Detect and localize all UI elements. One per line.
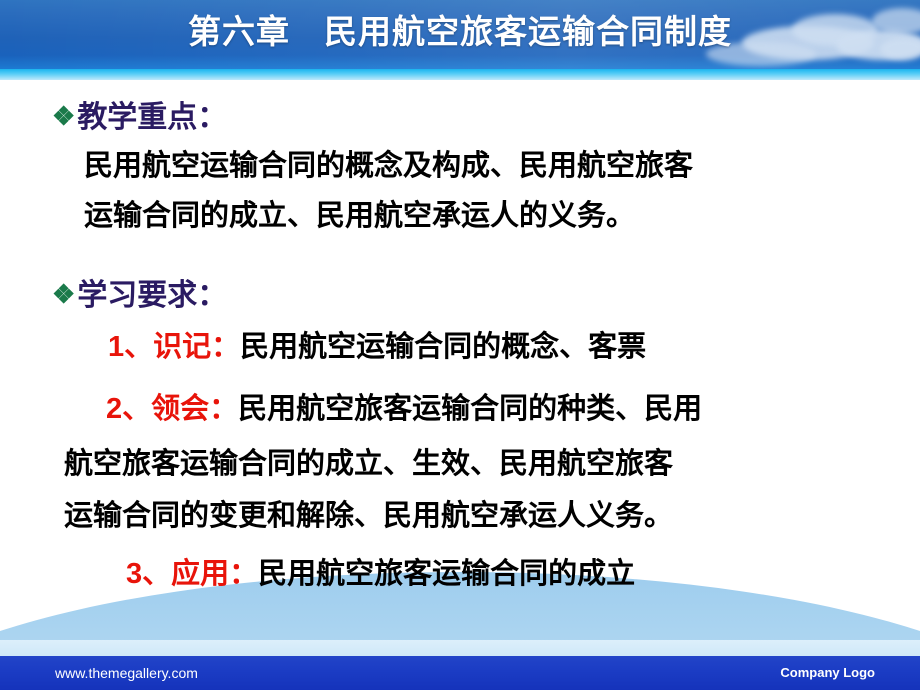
list-item-label: 应用：: [171, 558, 258, 590]
list-item-separator: 、: [122, 393, 151, 425]
section-heading-teaching-focus: ❖教学重点：: [52, 92, 227, 136]
list-item-text: 民用航空运输合同的概念、客票: [240, 331, 646, 363]
list-item-separator: 、: [142, 558, 171, 590]
body-text-line: 民用航空运输合同的概念及构成、民用航空旅客: [84, 142, 693, 184]
list-item-separator: 、: [124, 331, 153, 363]
slide-footer-bar: www.themegallery.com Company Logo: [0, 656, 920, 690]
list-item-text: 民用航空旅客运输合同的成立: [258, 558, 635, 590]
diamond-bullet-icon: ❖: [52, 280, 75, 309]
list-item-number: 1: [108, 331, 124, 363]
slide-title: 第六章 民用航空旅客运输合同制度: [0, 0, 920, 69]
slide-body: ❖教学重点： 民用航空运输合同的概念及构成、民用航空旅客 运输合同的成立、民用航…: [0, 80, 920, 600]
footer-url-link[interactable]: www.themegallery.com: [55, 656, 198, 690]
list-item-number: 2: [106, 393, 122, 425]
section-heading-study-requirements: ❖学习要求：: [52, 270, 227, 314]
list-item-label: 领会：: [151, 393, 238, 425]
section-heading-label: 教学重点：: [77, 101, 227, 134]
list-item-text: 民用航空旅客运输合同的种类、民用: [238, 393, 702, 425]
diamond-bullet-icon: ❖: [52, 102, 75, 131]
arc-base-strip: [0, 640, 920, 656]
list-item-1: 1、识记：民用航空运输合同的概念、客票: [108, 323, 646, 365]
body-text-line: 运输合同的成立、民用航空承运人的义务。: [84, 192, 635, 234]
slide: 第六章 民用航空旅客运输合同制度 ❖教学重点： 民用航空运输合同的概念及构成、民…: [0, 0, 920, 690]
list-item-label: 识记：: [153, 331, 240, 363]
list-item-2-continuation: 航空旅客运输合同的成立、生效、民用航空旅客: [64, 440, 673, 482]
header-accent-band: [0, 69, 920, 80]
list-item-3: 3、应用：民用航空旅客运输合同的成立: [126, 550, 635, 592]
list-item-2: 2、领会：民用航空旅客运输合同的种类、民用: [106, 385, 702, 427]
list-item-number: 3: [126, 558, 142, 590]
footer-company-logo[interactable]: Company Logo: [780, 656, 875, 690]
list-item-2-continuation: 运输合同的变更和解除、民用航空承运人义务。: [64, 492, 673, 534]
section-heading-label: 学习要求：: [77, 279, 227, 312]
